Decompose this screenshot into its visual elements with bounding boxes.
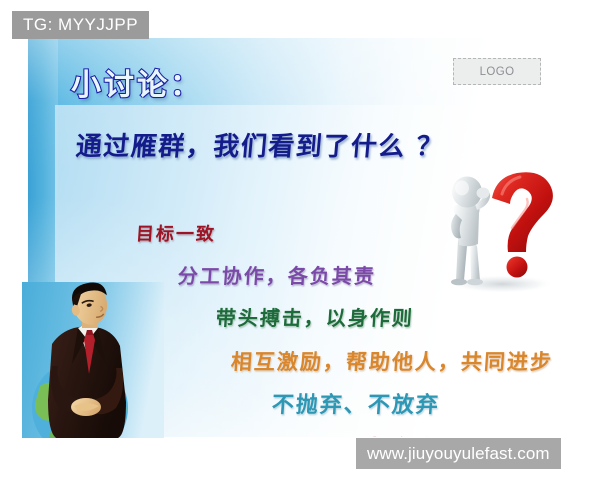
watermark-bottom-right: www.jiuyouyulefast.com (356, 438, 561, 469)
bullet-line-1: 目标一致 (135, 220, 217, 246)
bullet-line-6: 团队合作 (324, 429, 451, 437)
logo-placeholder-box[interactable]: LOGO (453, 58, 541, 85)
bullet-line-2: 分工协作，各负其责 (177, 260, 377, 289)
bullet-line-4: 相互激励，帮助他人，共同进步 (230, 346, 552, 376)
slide-title: 小讨论： (71, 60, 203, 104)
businessman-globe-image (22, 282, 164, 438)
watermark-top-left: TG: MYYJJPP (12, 11, 149, 39)
slide-question-heading: 通过雁群，我们看到了什么 ？ (74, 126, 445, 163)
logo-placeholder-label: LOGO (480, 66, 515, 78)
watermark-bottom-right-text: www.jiuyouyulefast.com (367, 444, 550, 464)
question-mark-figurine-image (440, 168, 570, 300)
bullet-line-3: 带头搏击，以身作则 (215, 302, 415, 331)
watermark-top-left-text: TG: MYYJJPP (23, 15, 138, 35)
bullet-line-5: 不抛弃、不放弃 (271, 387, 441, 419)
